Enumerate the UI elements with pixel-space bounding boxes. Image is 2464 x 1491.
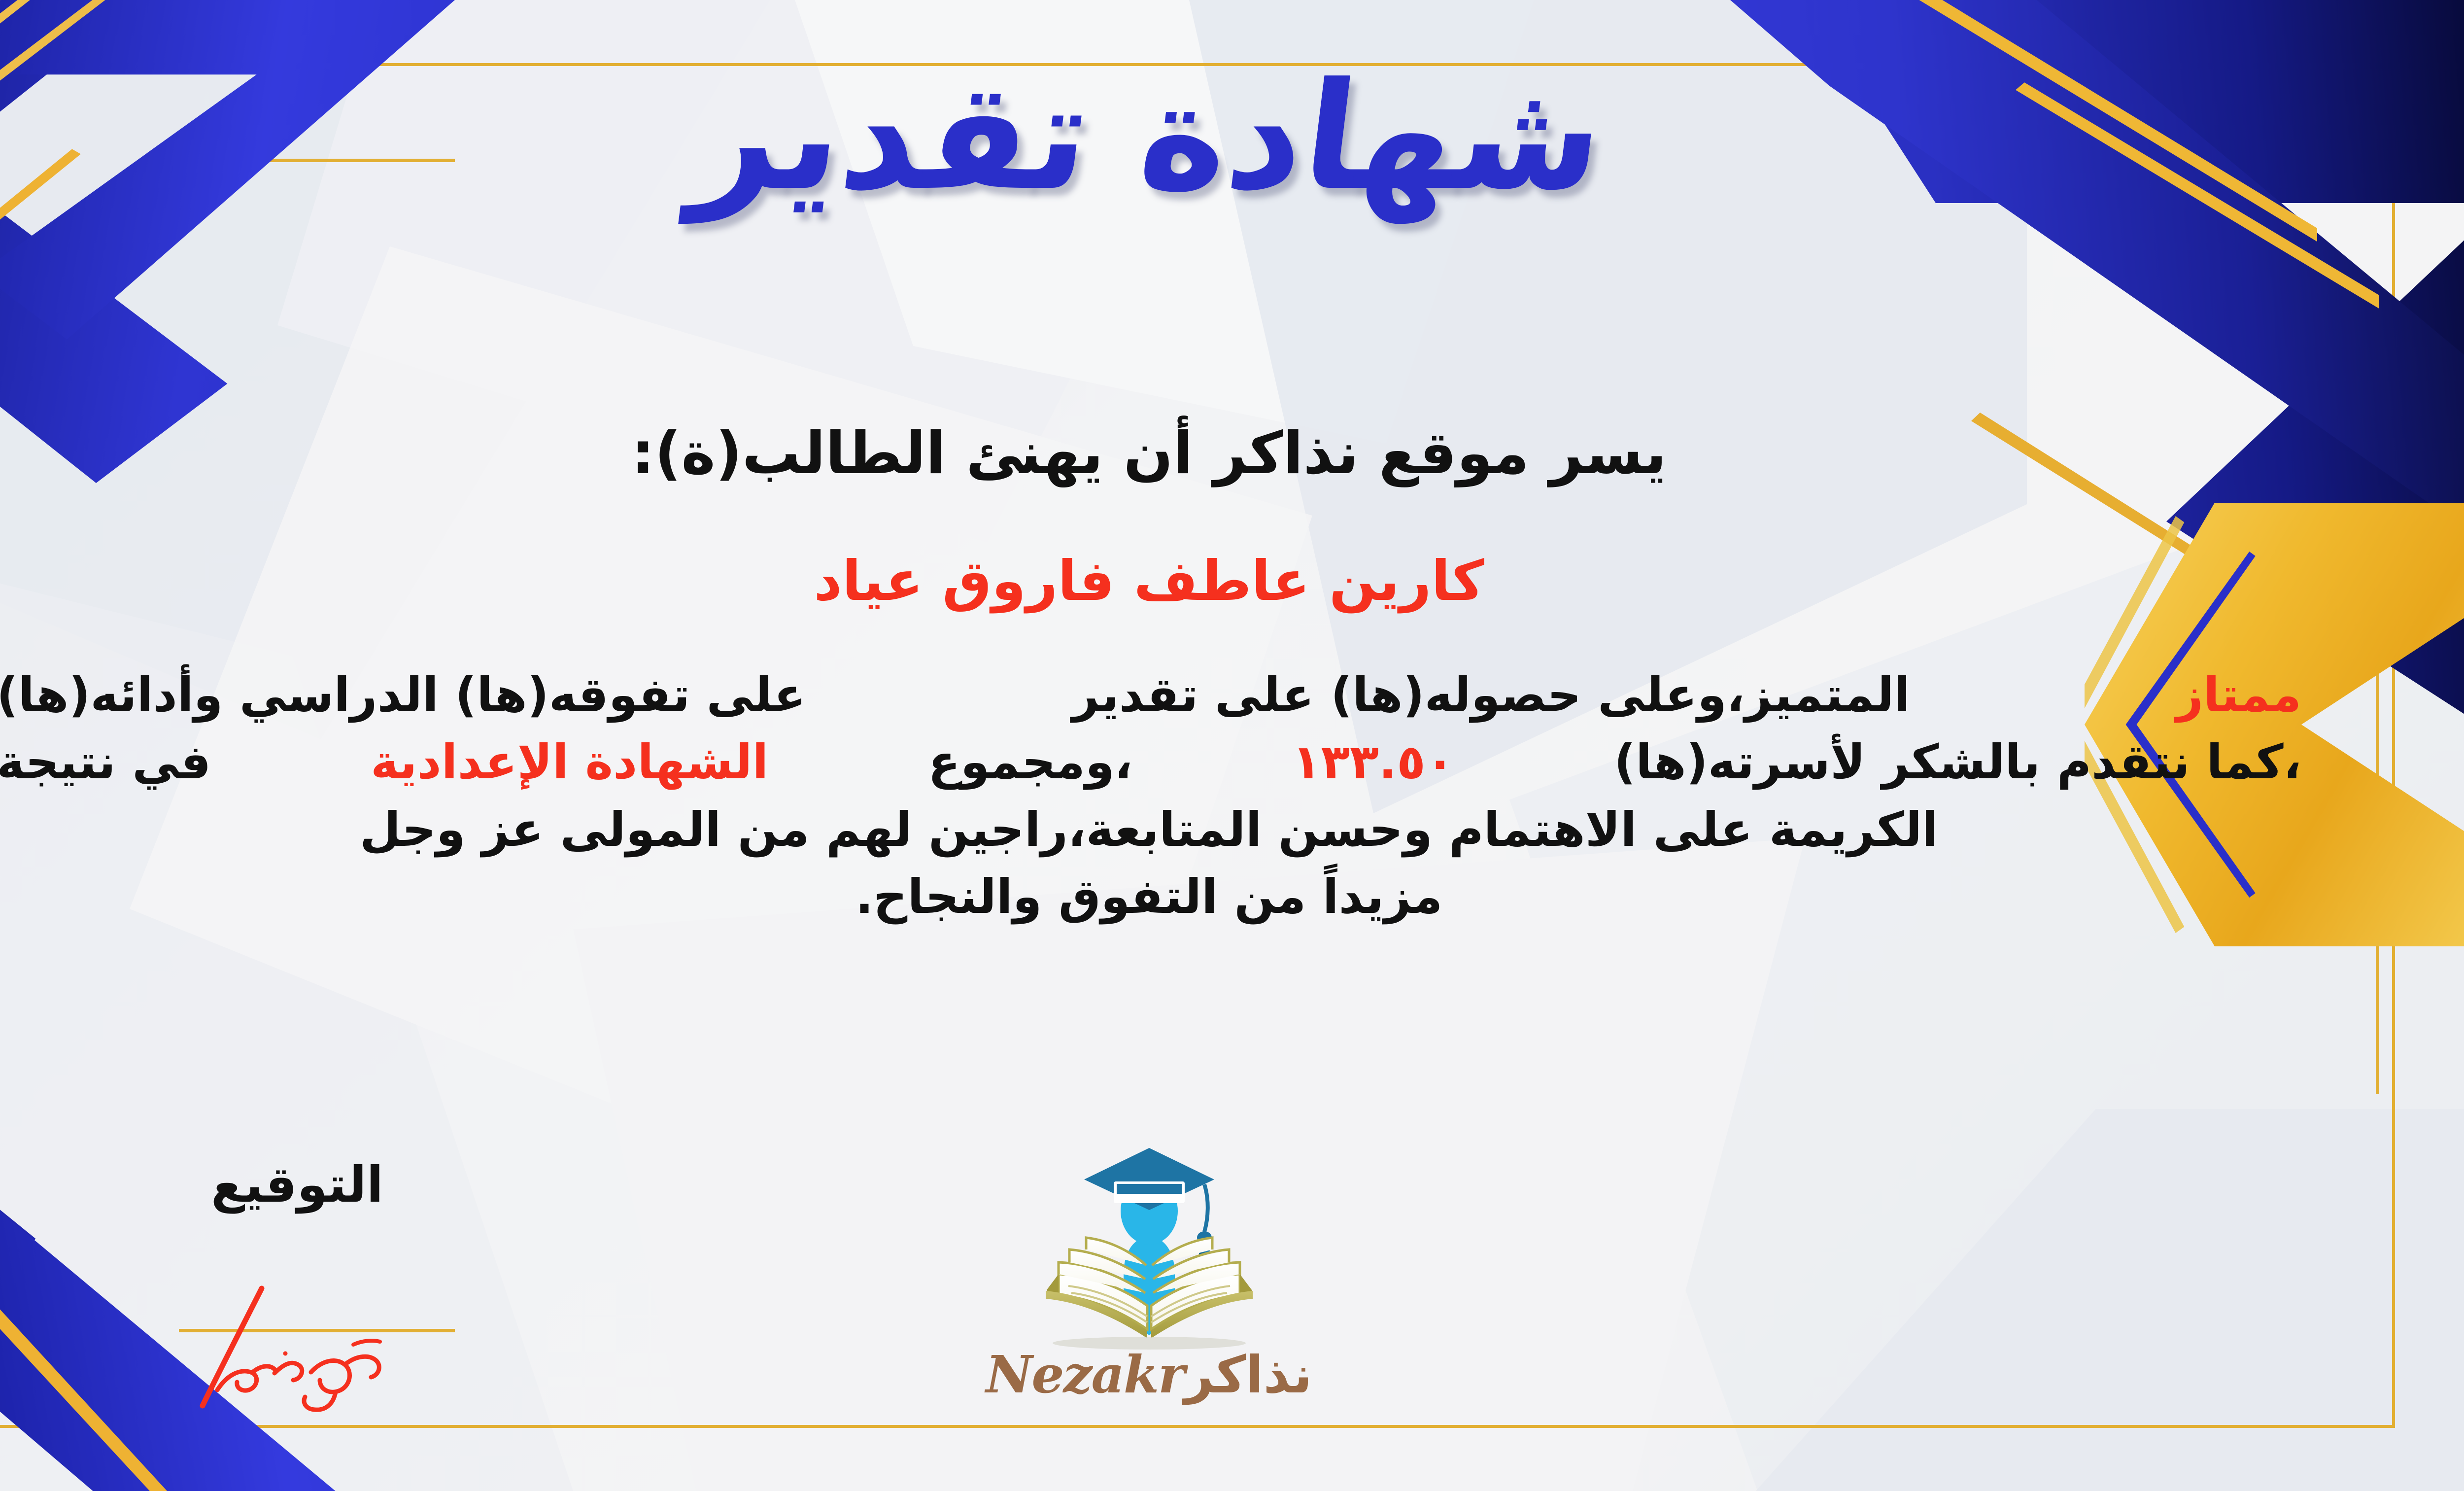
body-line-2: ،كما نتقدم بالشكر لأسرته(ها) ١٣٣.٥٠ ،ومج…	[0, 728, 2301, 796]
body-line-1: ممتاز المتميز،وعلى حصوله(ها) على تقدير ع…	[0, 661, 2301, 728]
logo-wordmark: نذاكرNezakr	[947, 1349, 1351, 1400]
site-logo: نذاكرNezakr	[947, 1126, 1351, 1452]
logo-arabic: نذاكر	[1184, 1345, 1312, 1405]
certificate-page: شهادة تقدير يسر موقع نذاكر أن يهنئ الطال…	[0, 0, 2464, 1491]
logo-latin: Nezakr	[986, 1344, 1184, 1405]
body-line-1-middle: المتميز،وعلى حصوله(ها) على تقدير	[1072, 661, 1910, 728]
exam-name: الشهادة الإعدادية	[371, 728, 768, 796]
body-line-3: الكريمة على الاهتمام وحسن المتابعة،راجين…	[0, 796, 2301, 863]
intro-line: يسر موقع نذاكر أن يهنئ الطالب(ة):	[0, 421, 2464, 485]
certificate-title: شهادة تقدير	[0, 63, 2464, 211]
total-score-value: ١٣٣.٥٠	[1292, 728, 1454, 796]
certificate-content: شهادة تقدير يسر موقع نذاكر أن يهنئ الطال…	[0, 0, 2464, 1491]
graduation-book-icon	[1011, 1126, 1287, 1358]
student-name: كارين عاطف فاروق عياد	[0, 551, 2464, 612]
signature-label: التوقيع	[211, 1156, 383, 1214]
grade-value: ممتاز	[2176, 661, 2301, 728]
body-line-4: مزيداً من التفوق والنجاح.	[0, 863, 2301, 930]
certificate-body: ممتاز المتميز،وعلى حصوله(ها) على تقدير ع…	[0, 661, 2301, 930]
body-line-2-right: في نتيجة	[0, 728, 211, 796]
thanks-clause: ،كما نتقدم بالشكر لأسرته(ها)	[1614, 728, 2301, 796]
handwritten-signature	[188, 1267, 405, 1415]
total-score-label: ،ومجموع	[928, 728, 1132, 796]
body-line-1-right: على تفوقه(ها) الدراسي وأدائه(ها)	[0, 661, 806, 728]
